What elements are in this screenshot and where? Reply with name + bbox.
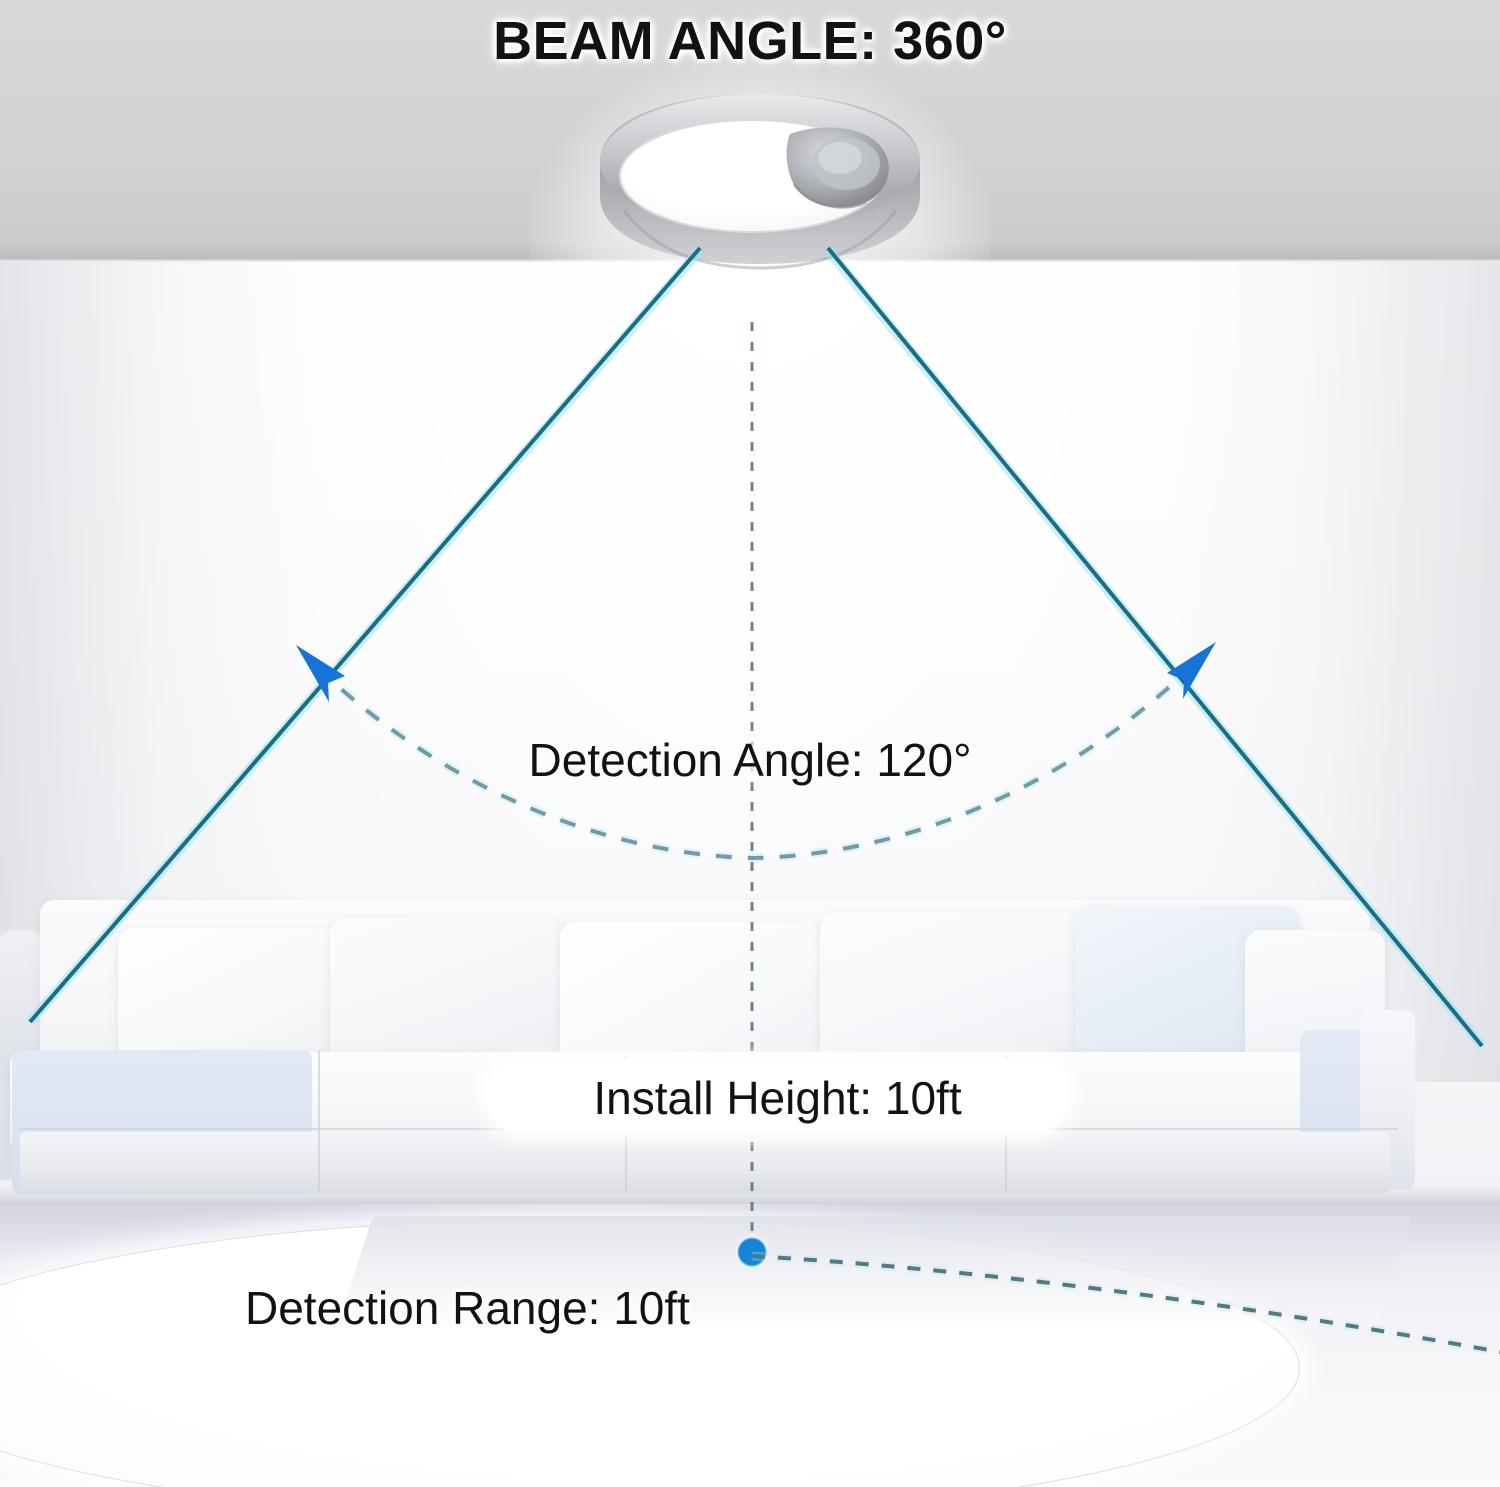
product-diagram-canvas: BEAM ANGLE: 360° Detection Angle: 120° I… (0, 0, 1500, 1487)
detection-angle-label: Detection Angle: 120° (0, 733, 1500, 787)
install-height-label: Install Height: 10ft (486, 1062, 1069, 1134)
detection-range-label: Detection Range: 10ft (245, 1281, 690, 1335)
sofa-seam (318, 1050, 320, 1192)
ceiling-motion-sensor-light (594, 92, 926, 330)
fixture-illustration (594, 92, 926, 330)
sofa-base (20, 1132, 1390, 1194)
pir-sensor-highlight (818, 142, 862, 174)
page-title: BEAM ANGLE: 360° (0, 10, 1500, 72)
